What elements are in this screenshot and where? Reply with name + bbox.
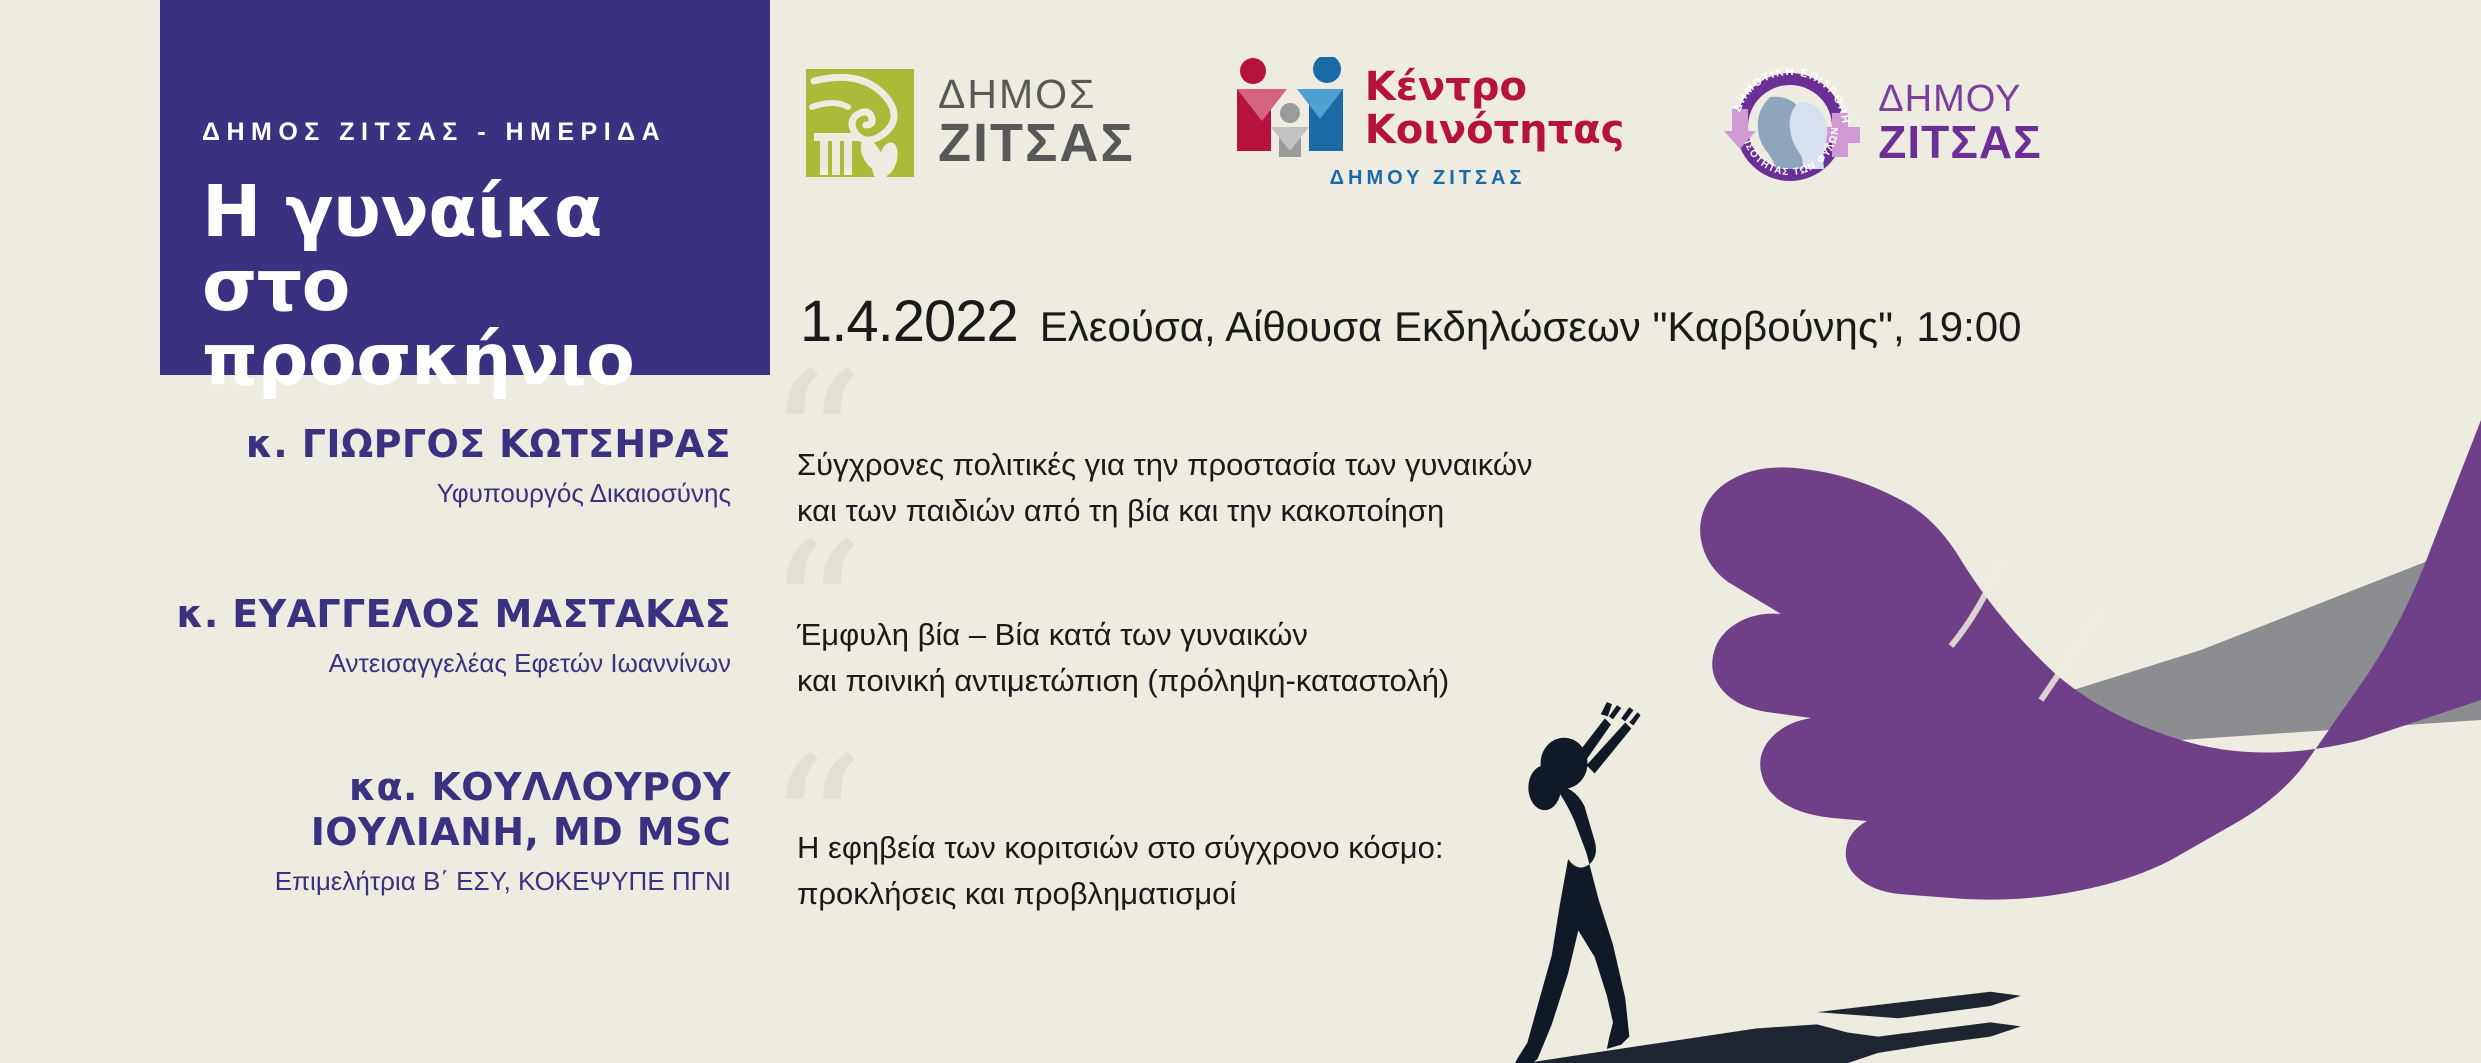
kentro-line1: Κέντρο: [1365, 66, 1625, 108]
speaker-topic-line-1: Σύγχρονες πολιτικές για την προστασία τω…: [797, 442, 1700, 488]
two-face-profiles-badge-icon: ΔΗΜΟΤΙΚΗ ΕΠΙΤΡΟΠΗ ΙΣΟΤΗΤΑΣ ΤΩΝ ΦΥΛΩΝ: [1720, 57, 1860, 189]
headline-line-2: στο προσκήνιο: [202, 249, 770, 397]
speaker-title: Επιμελήτρια Β΄ ΕΣΥ, ΚΟΚΕΨΥΠΕ ΠΓΝΙ: [0, 866, 731, 897]
dimotiki-epitropi-logo-text: ΔΗΜΟΥ ΖΙΤΣΑΣ: [1878, 80, 2041, 166]
gray-shadow-shape: [2001, 540, 2481, 740]
dimos-zitsas-logo: ΔΗΜΟΣ ΖΙΤΣΑΣ: [800, 63, 1135, 183]
speaker-topic-line-1: Έμφυλη βία – Βία κατά των γυναικών: [797, 612, 1700, 658]
dimotiki-epitropi-logo: ΔΗΜΟΤΙΚΗ ΕΠΙΤΡΟΠΗ ΙΣΟΤΗΤΑΣ ΤΩΝ ΦΥΛΩΝ ΔΗΜ…: [1720, 57, 2041, 189]
epitropi-line1: ΔΗΜΟΥ: [1878, 80, 2041, 118]
headline-line-1: Η γυναίκα: [202, 175, 770, 249]
kentro-koinotitas-logo: Κέντρο Κοινότητας ΔΗΜΟΥ ΖΙΤΣΑΣ: [1231, 57, 1625, 190]
knuckle-crease-line: [2041, 610, 2101, 700]
event-poster: ΔΗΜΟΣ ΖΙΤΣΑΣ - ΗΜΕΡΙΔΑ Η γυναίκα στο προ…: [0, 0, 2481, 1063]
speaker-topic: “ Η εφηβεία των κοριτσιών στο σύγχρονο κ…: [775, 755, 1700, 917]
three-figures-icon: [1231, 57, 1349, 161]
speaker-identity: κ. ΓΙΩΡΓΟΣ ΚΩΤΣΗΡΑΣ Υφυπουργός Δικαιοσύν…: [0, 400, 775, 509]
speaker-topic: “ Σύγχρονες πολιτικές για την προστασία …: [775, 400, 1700, 534]
dimos-zitsas-line2: ΖΙΤΣΑΣ: [938, 115, 1135, 171]
knuckle-crease-line: [1951, 560, 2001, 646]
speakers-list: κ. ΓΙΩΡΓΟΣ ΚΩΤΣΗΡΑΣ Υφυπουργός Δικαιοσύν…: [0, 400, 1700, 955]
speaker-name: κα. ΚΟΥΛΛΟΥΡΟΥ ΙΟΥΛΙΑΝΗ, MD MSC: [0, 765, 731, 855]
speaker-name-line-1: κα. ΚΟΥΛΛΟΥΡΟΥ: [349, 765, 731, 809]
speaker-topic-line-2: και των παιδιών από τη βία και την κακοπ…: [797, 488, 1700, 534]
speaker-identity: κα. ΚΟΥΛΛΟΥΡΟΥ ΙΟΥΛΙΑΝΗ, MD MSC Επιμελήτ…: [0, 755, 775, 897]
event-datebar: 1.4.2022 Ελεούσα, Αίθουσα Εκδηλώσεων "Κα…: [800, 288, 2022, 355]
speaker-topic-line-1: Η εφηβεία των κοριτσιών στο σύγχρονο κόσ…: [797, 825, 1700, 871]
speaker-title: Υφυπουργός Δικαιοσύνης: [0, 478, 731, 509]
speaker-name: κ. ΓΙΩΡΓΟΣ ΚΩΤΣΗΡΑΣ: [0, 422, 731, 467]
speaker-name-line-2: ΙΟΥΛΙΑΝΗ, MD MSC: [311, 810, 731, 854]
dimos-zitsas-line1: ΔΗΜΟΣ: [938, 74, 1135, 115]
dimos-zitsas-logo-text: ΔΗΜΟΣ ΖΙΤΣΑΣ: [938, 74, 1135, 171]
logo-strip: ΔΗΜΟΣ ΖΙΤΣΑΣ Κέντρο: [800, 48, 2042, 198]
page-title: Η γυναίκα στο προσκήνιο: [202, 175, 770, 396]
olive-square-ionic-column-leaf-icon: [800, 63, 920, 183]
title-block: ΔΗΜΟΣ ΖΙΤΣΑΣ - ΗΜΕΡΙΔΑ Η γυναίκα στο προ…: [160, 0, 770, 375]
speaker-topic-line-2: και ποινική αντιμετώπιση (πρόληψη-καταστ…: [797, 658, 1700, 704]
kentro-line2: Κοινότητας: [1365, 109, 1625, 151]
event-venue: Ελεούσα, Αίθουσα Εκδηλώσεων "Καρβούνης",…: [1040, 303, 2022, 351]
kentro-subtitle: ΔΗΜΟΥ ΖΙΤΣΑΣ: [1231, 167, 1625, 190]
speaker-topic: “ Έμφυλη βία – Βία κατά των γυναικών και…: [775, 580, 1700, 704]
speaker-title: Αντεισαγγελέας Εφετών Ιωαννίνων: [0, 648, 731, 679]
speaker-identity: κ. ΕΥΑΓΓΕΛΟΣ ΜΑΣΤΑΚΑΣ Αντεισαγγελέας Εφε…: [0, 580, 775, 679]
speaker-name: κ. ΕΥΑΓΓΕΛΟΣ ΜΑΣΤΑΚΑΣ: [0, 592, 731, 637]
speaker-topic-line-2: προκλήσεις και προβληματισμοί: [797, 871, 1700, 917]
poster-kicker: ΔΗΜΟΣ ΖΙΤΣΑΣ - ΗΜΕΡΙΔΑ: [202, 118, 770, 147]
speaker-row: κα. ΚΟΥΛΛΟΥΡΟΥ ΙΟΥΛΙΑΝΗ, MD MSC Επιμελήτ…: [0, 755, 1700, 955]
epitropi-line2: ΖΙΤΣΑΣ: [1878, 118, 2041, 166]
kentro-koinotitas-logo-text: Κέντρο Κοινότητας: [1365, 66, 1625, 151]
